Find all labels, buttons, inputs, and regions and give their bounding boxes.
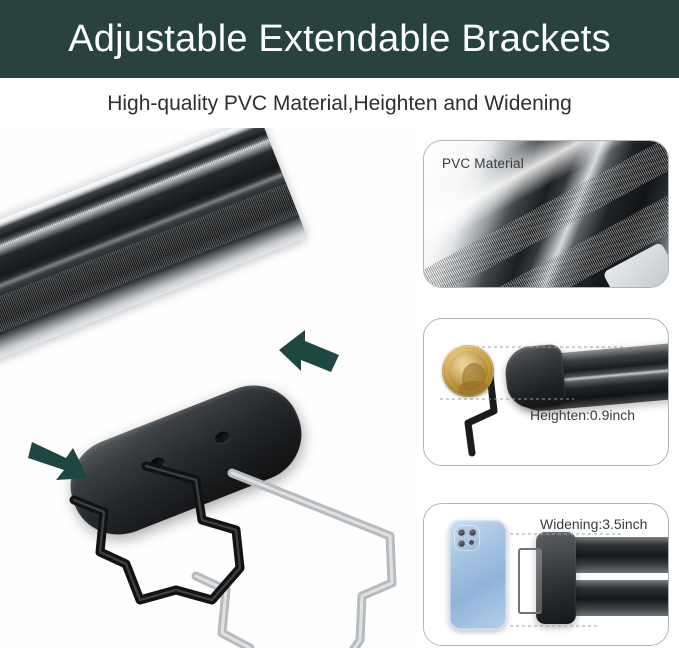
coin-face [448, 351, 488, 391]
panel-widening: Widening:3.5inch [423, 503, 669, 646]
page-subtitle: High-quality PVC Material,Heighten and W… [0, 84, 679, 124]
page-title: Adjustable Extendable Brackets [0, 0, 679, 78]
panel-pvc-material: PVC Material [423, 140, 669, 288]
product-feature-image: Adjustable Extendable Brackets High-qual… [0, 0, 679, 648]
wire-brackets [0, 128, 415, 648]
widening-label: Widening:3.5inch [540, 516, 647, 532]
us-dollar-coin [442, 345, 494, 397]
arrow-up-left-icon [275, 324, 345, 384]
black-wire-bracket [74, 466, 240, 600]
heighten-label: Heighten:0.9inch [530, 407, 635, 423]
hero-product-photo [0, 128, 415, 648]
header-banner: Adjustable Extendable Brackets [0, 0, 679, 78]
pvc-material-label: PVC Material [442, 156, 524, 171]
arrow-down-right-icon [26, 428, 98, 490]
coin-detail [458, 381, 490, 397]
panel-heighten: Heighten:0.9inch [423, 318, 669, 466]
